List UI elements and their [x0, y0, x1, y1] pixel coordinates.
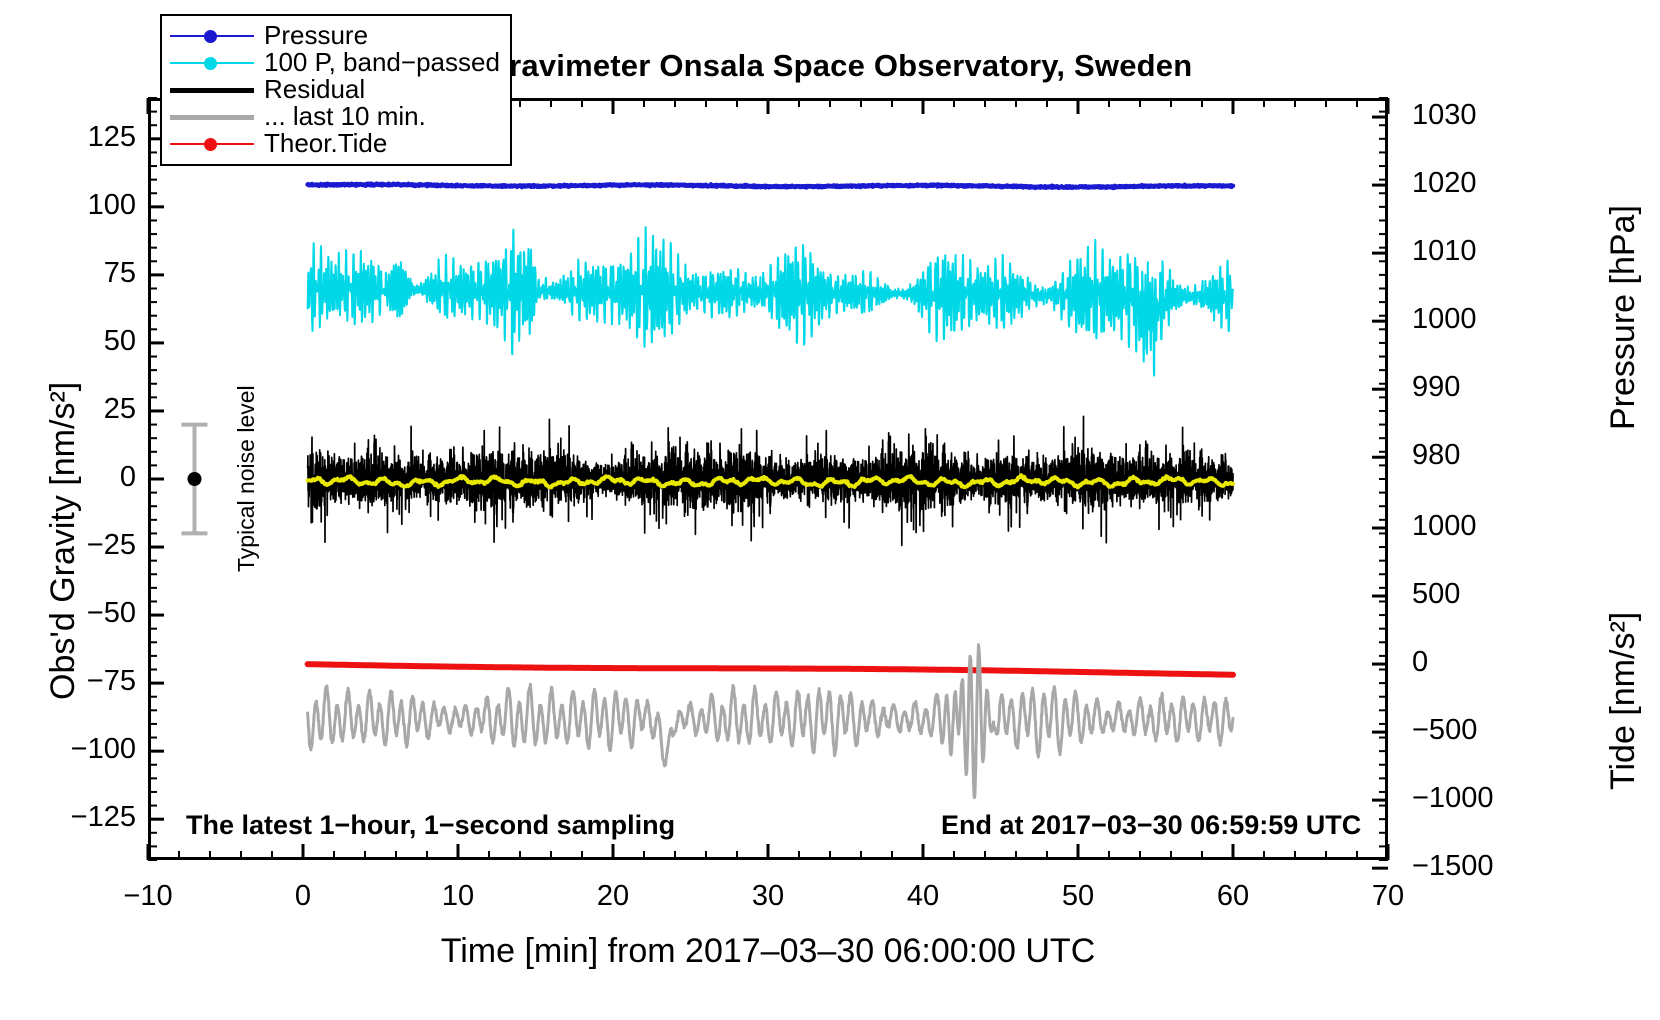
y-axis-title-tide: Tide [nm/s²] [1604, 612, 1643, 790]
noise-level-label: Typical noise level [233, 385, 260, 572]
pressure-tick-label: 1010 [1412, 237, 1522, 266]
sampling-note: The latest 1−hour, 1−second sampling [186, 810, 675, 841]
chart-legend[interactable]: Pressure100 P, band−passedResidual... la… [160, 14, 512, 166]
pressure-tick-label: 980 [1412, 441, 1522, 470]
x-tick-label: 60 [1173, 882, 1293, 911]
end-time-note: End at 2017−03−30 06:59:59 UTC [941, 810, 1361, 841]
x-tick-label: 20 [553, 882, 673, 911]
legend-label: Theor.Tide [264, 128, 387, 159]
legend-swatch-icon [170, 53, 254, 73]
x-tick-label: 30 [708, 882, 828, 911]
y-axis-title-pressure: Pressure [hPa] [1604, 205, 1643, 430]
x-tick-label: 10 [398, 882, 518, 911]
legend-swatch-icon [170, 26, 254, 46]
y-axis-title-left: Obs'd Gravity [nm/s²] [44, 382, 83, 700]
legend-swatch-icon [170, 80, 254, 100]
y-tick-label: 125 [0, 123, 136, 152]
legend-item-2[interactable]: 100 P, band−passed [170, 49, 502, 76]
legend-swatch-icon [170, 134, 254, 154]
legend-swatch-icon [170, 107, 254, 127]
y-tick-label: 75 [0, 259, 136, 288]
tide-tick-label: −1000 [1412, 784, 1522, 813]
x-tick-label: 0 [243, 882, 363, 911]
x-tick-label: 40 [863, 882, 983, 911]
chart-page: SCG_054 gravimeter Onsala Space Observat… [0, 0, 1660, 1020]
y-tick-label: 50 [0, 327, 136, 356]
legend-item-3[interactable]: Residual [170, 76, 502, 103]
x-tick-label: 70 [1328, 882, 1448, 911]
tide-tick-label: −500 [1412, 716, 1522, 745]
pressure-tick-label: 1020 [1412, 169, 1522, 198]
pressure-tick-label: 1000 [1412, 305, 1522, 334]
pressure-tick-label: 990 [1412, 373, 1522, 402]
x-tick-label: 50 [1018, 882, 1138, 911]
y-tick-label: 100 [0, 191, 136, 220]
tide-tick-label: 1000 [1412, 512, 1522, 541]
tide-tick-label: 500 [1412, 580, 1522, 609]
x-tick-label: −10 [88, 882, 208, 911]
legend-item-1[interactable]: Pressure [170, 22, 502, 49]
tide-tick-label: 0 [1412, 648, 1522, 677]
y-tick-label: −100 [0, 735, 136, 764]
pressure-tick-label: 1030 [1412, 101, 1522, 130]
tide-tick-label: −1500 [1412, 852, 1522, 881]
legend-item-5[interactable]: Theor.Tide [170, 130, 502, 157]
x-axis-title: Time [min] from 2017–03–30 06:00:00 UTC [148, 932, 1388, 971]
legend-item-4[interactable]: ... last 10 min. [170, 103, 502, 130]
y-tick-label: −125 [0, 803, 136, 832]
plot-area [148, 98, 1388, 860]
